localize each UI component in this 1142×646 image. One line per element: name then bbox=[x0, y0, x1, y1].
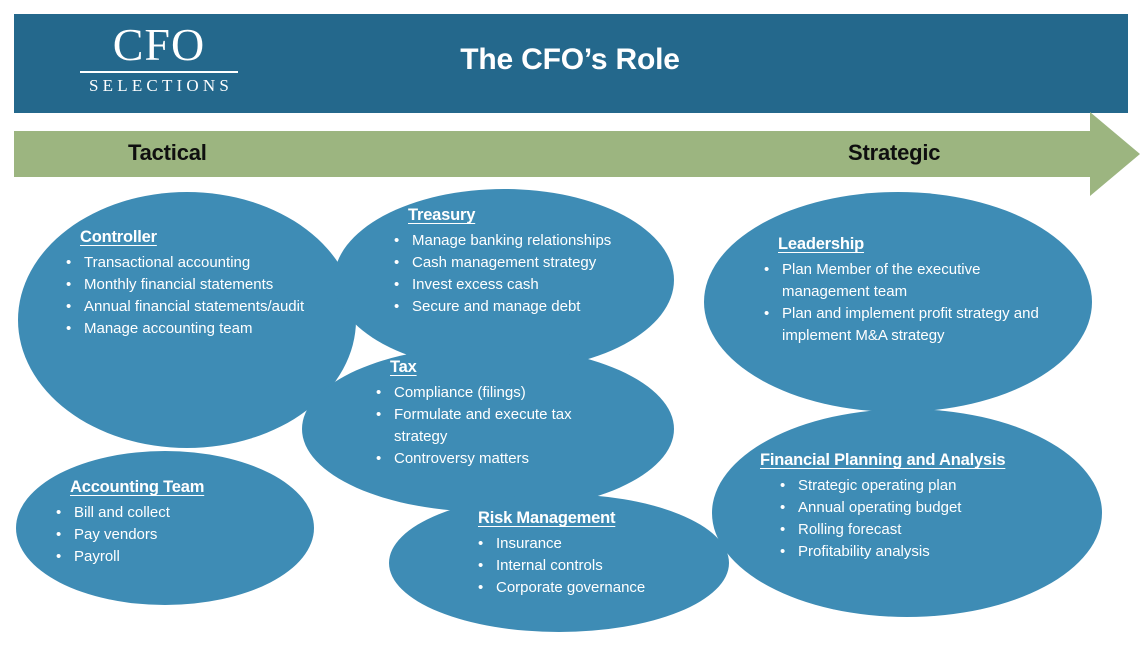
label-strategic: Strategic bbox=[848, 140, 940, 166]
bubble-treasury-content: Treasury •Manage banking relationships •… bbox=[390, 206, 680, 318]
list-item: •Pay vendors bbox=[52, 524, 292, 546]
list-item: •Formulate and execute tax strategy bbox=[372, 404, 622, 448]
list-item: •Annual operating budget bbox=[760, 497, 1068, 519]
list-item: •Manage banking relationships bbox=[390, 230, 680, 252]
bullet-icon: • bbox=[394, 252, 399, 274]
bullet-icon: • bbox=[764, 259, 769, 281]
list-item-label: Insurance bbox=[496, 535, 562, 552]
list-item: •Strategic operating plan bbox=[760, 475, 1068, 497]
list-item-label: Plan and implement profit strategy and i… bbox=[782, 305, 1039, 344]
list-item: •Profitability analysis bbox=[760, 541, 1068, 563]
list-item-label: Payroll bbox=[74, 548, 120, 565]
bubble-risk-management-title: Risk Management bbox=[450, 509, 700, 528]
bullet-icon: • bbox=[376, 448, 381, 470]
list-item: •Rolling forecast bbox=[760, 519, 1068, 541]
list-item: •Transactional accounting bbox=[62, 252, 332, 274]
bullet-icon: • bbox=[66, 274, 71, 296]
list-item-label: Monthly financial statements bbox=[84, 276, 273, 293]
list-item: •Invest excess cash bbox=[390, 274, 680, 296]
bullet-icon: • bbox=[780, 519, 785, 541]
bubble-risk-management-content: Risk Management •Insurance •Internal con… bbox=[450, 509, 700, 599]
bubble-leadership-list: •Plan Member of the executive management… bbox=[760, 259, 1056, 347]
bubble-tax-title: Tax bbox=[372, 358, 622, 377]
list-item-label: Cash management strategy bbox=[412, 254, 596, 271]
list-item: •Monthly financial statements bbox=[62, 274, 332, 296]
logo-primary-text: CFO bbox=[78, 20, 240, 70]
list-item: •Insurance bbox=[450, 533, 700, 555]
bubble-controller-title: Controller bbox=[62, 228, 332, 247]
list-item-label: Corporate governance bbox=[496, 579, 645, 596]
list-item-label: Internal controls bbox=[496, 557, 603, 574]
bubble-fpa-list: •Strategic operating plan •Annual operat… bbox=[760, 475, 1068, 563]
logo-divider-rule bbox=[80, 71, 238, 73]
list-item-label: Plan Member of the executive management … bbox=[782, 261, 980, 300]
list-item-label: Pay vendors bbox=[74, 526, 157, 543]
list-item-label: Bill and collect bbox=[74, 504, 170, 521]
bubble-treasury-title: Treasury bbox=[390, 206, 680, 225]
list-item: •Cash management strategy bbox=[390, 252, 680, 274]
bubble-controller-list: •Transactional accounting •Monthly finan… bbox=[62, 252, 332, 340]
list-item-label: Annual financial statements/audit bbox=[84, 298, 304, 315]
list-item: •Compliance (filings) bbox=[372, 382, 622, 404]
list-item-label: Annual operating budget bbox=[798, 499, 961, 516]
slide-canvas: CFO SELECTIONS The CFO’s Role Tactical S… bbox=[0, 0, 1142, 646]
list-item-label: Manage accounting team bbox=[84, 320, 252, 337]
bullet-icon: • bbox=[394, 230, 399, 252]
bullet-icon: • bbox=[478, 577, 483, 599]
bubble-fpa-title: Financial Planning and Analysis bbox=[760, 451, 1068, 470]
bubble-leadership-title: Leadership bbox=[760, 235, 1056, 254]
list-item: •Internal controls bbox=[450, 555, 700, 577]
bullet-icon: • bbox=[376, 404, 381, 426]
bullet-icon: • bbox=[66, 318, 71, 340]
bubble-accounting-team-list: •Bill and collect •Pay vendors •Payroll bbox=[52, 502, 292, 568]
list-item-label: Rolling forecast bbox=[798, 521, 901, 538]
bullet-icon: • bbox=[764, 303, 769, 325]
bullet-icon: • bbox=[394, 274, 399, 296]
bubble-accounting-team-title: Accounting Team bbox=[52, 478, 292, 497]
cfo-selections-logo: CFO SELECTIONS bbox=[78, 20, 240, 100]
list-item: •Payroll bbox=[52, 546, 292, 568]
label-tactical: Tactical bbox=[128, 140, 207, 166]
list-item: •Bill and collect bbox=[52, 502, 292, 524]
bullet-icon: • bbox=[66, 252, 71, 274]
bullet-icon: • bbox=[56, 546, 61, 568]
bubble-leadership-content: Leadership •Plan Member of the executive… bbox=[760, 235, 1056, 347]
list-item-label: Transactional accounting bbox=[84, 254, 250, 271]
list-item-label: Formulate and execute tax strategy bbox=[394, 406, 572, 445]
page-title: The CFO’s Role bbox=[300, 43, 840, 77]
list-item-label: Invest excess cash bbox=[412, 276, 539, 293]
bubble-accounting-team-content: Accounting Team •Bill and collect •Pay v… bbox=[52, 478, 292, 568]
list-item: •Corporate governance bbox=[450, 577, 700, 599]
list-item-label: Compliance (filings) bbox=[394, 384, 526, 401]
bullet-icon: • bbox=[780, 541, 785, 563]
list-item: •Secure and manage debt bbox=[390, 296, 680, 318]
logo-secondary-text: SELECTIONS bbox=[78, 76, 240, 96]
bullet-icon: • bbox=[478, 555, 483, 577]
bullet-icon: • bbox=[780, 475, 785, 497]
bullet-icon: • bbox=[56, 502, 61, 524]
list-item: •Manage accounting team bbox=[62, 318, 332, 340]
bubble-fpa-content: Financial Planning and Analysis •Strateg… bbox=[760, 451, 1068, 563]
bubble-treasury-list: •Manage banking relationships •Cash mana… bbox=[390, 230, 680, 318]
list-item: •Plan and implement profit strategy and … bbox=[760, 303, 1056, 347]
bullet-icon: • bbox=[376, 382, 381, 404]
list-item: •Controversy matters bbox=[372, 448, 622, 470]
list-item-label: Strategic operating plan bbox=[798, 477, 956, 494]
bubble-tax-content: Tax •Compliance (filings) •Formulate and… bbox=[372, 358, 622, 470]
bullet-icon: • bbox=[780, 497, 785, 519]
list-item-label: Manage banking relationships bbox=[412, 232, 611, 249]
bullet-icon: • bbox=[478, 533, 483, 555]
list-item-label: Controversy matters bbox=[394, 450, 529, 467]
bubble-tax-list: •Compliance (filings) •Formulate and exe… bbox=[372, 382, 622, 470]
list-item: •Plan Member of the executive management… bbox=[760, 259, 1056, 303]
bullet-icon: • bbox=[56, 524, 61, 546]
bullet-icon: • bbox=[66, 296, 71, 318]
bullet-icon: • bbox=[394, 296, 399, 318]
list-item-label: Secure and manage debt bbox=[412, 298, 580, 315]
bubble-risk-management-list: •Insurance •Internal controls •Corporate… bbox=[450, 533, 700, 599]
list-item: •Annual financial statements/audit bbox=[62, 296, 332, 318]
list-item-label: Profitability analysis bbox=[798, 543, 930, 560]
bubble-controller-content: Controller •Transactional accounting •Mo… bbox=[62, 228, 332, 340]
